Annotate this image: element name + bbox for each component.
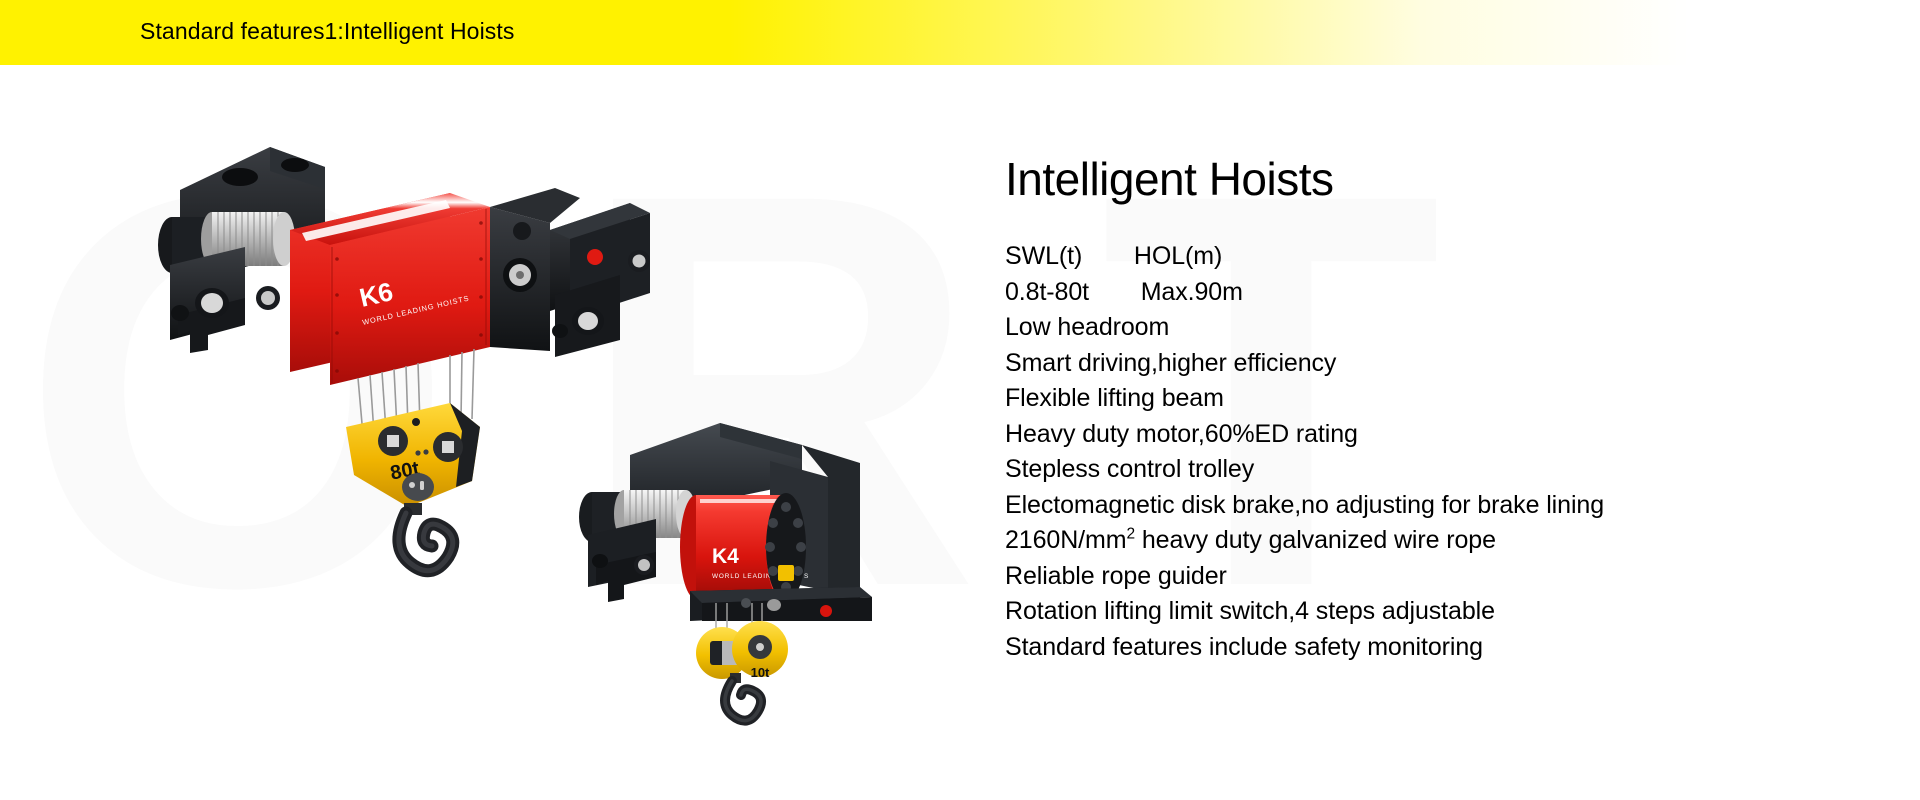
spec-item: Smart driving,higher efficiency xyxy=(1005,346,1765,382)
header-title: Standard features1:Intelligent Hoists xyxy=(140,18,514,45)
spec-item: Low headroom xyxy=(1005,310,1765,346)
spec-item: Stepless control trolley xyxy=(1005,452,1765,488)
spec-item: 0.8t-80t Max.90m xyxy=(1005,275,1765,311)
header-banner: Standard features1:Intelligent Hoists xyxy=(0,0,1920,65)
spec-value: HOL(m) xyxy=(1134,242,1222,270)
spec-item: 2160N/mm2 heavy duty galvanized wire rop… xyxy=(1005,523,1765,559)
spec-item: Reliable rope guider xyxy=(1005,559,1765,595)
spec-value: Max.90m xyxy=(1141,278,1243,306)
spec-label: SWL(t) xyxy=(1005,242,1082,270)
page-title: Intelligent Hoists xyxy=(1005,155,1765,203)
spec-label: 0.8t-80t xyxy=(1005,278,1089,306)
spec-label-rope: heavy duty galvanized wire rope xyxy=(1135,526,1496,554)
capacity-label-k4: 10t xyxy=(751,665,770,680)
spec-item: Standard features include safety monitor… xyxy=(1005,630,1765,666)
spec-item: Heavy duty motor,60%ED rating xyxy=(1005,417,1765,453)
spec-item: Rotation lifting limit switch,4 steps ad… xyxy=(1005,594,1765,630)
product-image-k4: K4 WORLD LEADING HOISTS xyxy=(570,415,910,705)
spec-item: Flexible lifting beam xyxy=(1005,381,1765,417)
specification-panel: Intelligent Hoists SWL(t) HOL(m) 0.8t-80… xyxy=(1005,155,1765,665)
specification-list: SWL(t) HOL(m) 0.8t-80t Max.90m Low headr… xyxy=(1005,239,1765,665)
spec-value-rope: 2160N/mm xyxy=(1005,526,1126,554)
spec-item: Electomagnetic disk brake,no adjusting f… xyxy=(1005,488,1765,524)
product-model-label-k4: K4 xyxy=(712,545,739,568)
slide-body: K6 WORLD LEADING HOISTS xyxy=(0,65,1920,800)
superscript: 2 xyxy=(1126,526,1135,543)
spec-item: SWL(t) HOL(m) xyxy=(1005,239,1765,275)
